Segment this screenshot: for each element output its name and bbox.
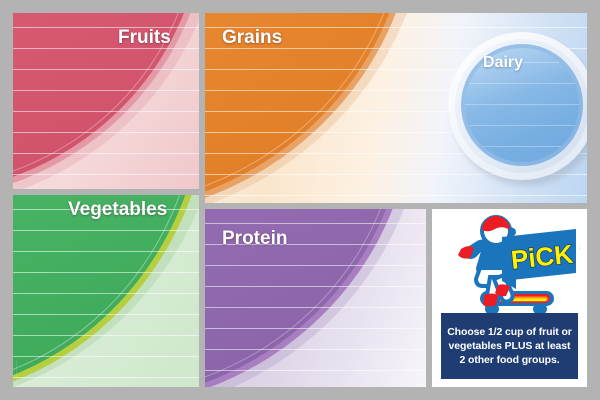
- label-grains: Grains: [222, 27, 282, 49]
- label-dairy: Dairy: [483, 54, 523, 72]
- pick3-message-line-1: Choose 1/2 cup of fruit or: [447, 326, 572, 338]
- pick3-message-line-3: 2 other food groups.: [459, 354, 559, 366]
- poster: PiCK 3! Choose 1/2 cup of fruit or veget…: [0, 0, 600, 400]
- panel-fruits[interactable]: [13, 13, 199, 189]
- label-fruits: Fruits: [118, 27, 171, 49]
- label-protein: Protein: [222, 228, 287, 250]
- pick3-banner: PiCK 3!: [502, 229, 580, 289]
- pick3-message-line-2: vegetables PLUS at least: [449, 340, 571, 352]
- pick3-message: Choose 1/2 cup of fruit or vegetables PL…: [441, 313, 578, 379]
- panel-pick3[interactable]: PiCK 3! Choose 1/2 cup of fruit or veget…: [432, 209, 587, 387]
- label-vegetables: Vegetables: [68, 199, 167, 221]
- panel-vegetables[interactable]: [13, 195, 199, 387]
- fine-print: .............................: [15, 308, 24, 380]
- skateboarder-icon: PiCK 3!: [440, 211, 580, 315]
